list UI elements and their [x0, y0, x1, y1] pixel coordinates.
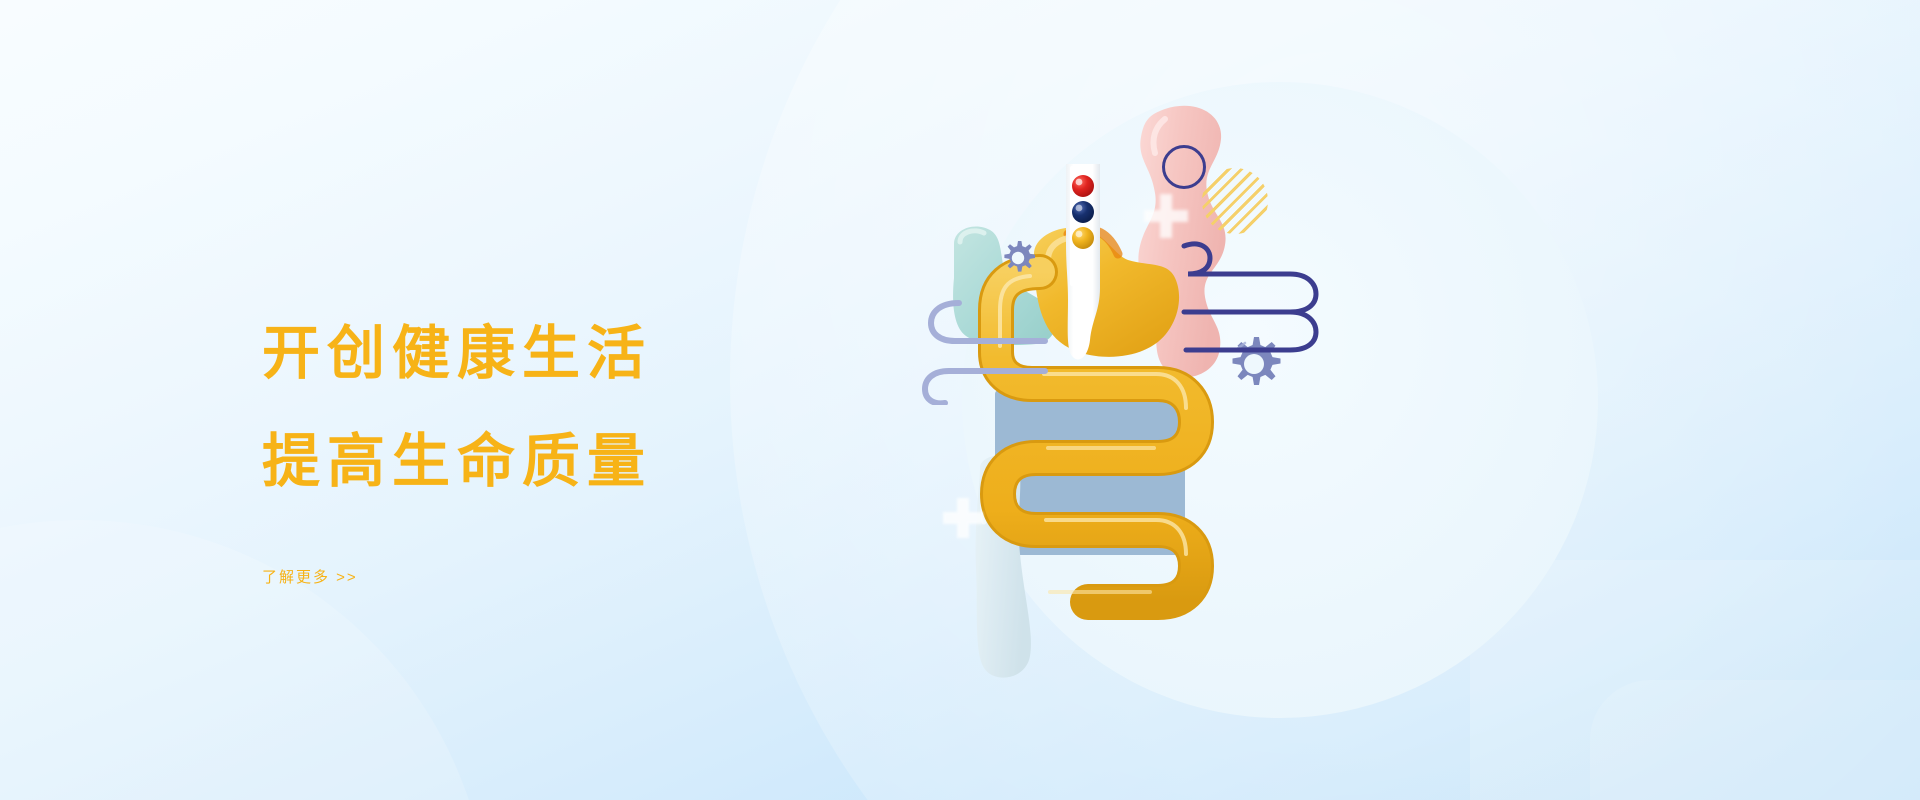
- ball-amber: [1072, 227, 1094, 249]
- hero-text-block: 开创健康生活 提高生命质量 了解更多 >>: [262, 300, 882, 587]
- ball-navy: [1072, 201, 1094, 223]
- background-rounded-rect-2: [1590, 680, 1920, 800]
- illustration-medical-digestive: [940, 60, 1600, 740]
- headline-line-1: 开创健康生活: [262, 300, 882, 408]
- cross-top-icon: [1140, 190, 1192, 242]
- navy-ring: [1162, 145, 1206, 189]
- hero-banner: 开创健康生活 提高生命质量 了解更多 >>: [0, 0, 1920, 800]
- zigzag-line-left: [905, 285, 1065, 405]
- striped-circle: [1202, 168, 1268, 234]
- ball-red: [1072, 175, 1094, 197]
- learn-more-link[interactable]: 了解更多 >>: [262, 566, 358, 587]
- test-tube: [1058, 160, 1108, 370]
- headline-line-2: 提高生命质量: [262, 408, 882, 516]
- zigzag-line-right: [1170, 232, 1330, 362]
- cross-bottom-icon: [940, 495, 986, 541]
- gear-small-icon: [1000, 240, 1036, 276]
